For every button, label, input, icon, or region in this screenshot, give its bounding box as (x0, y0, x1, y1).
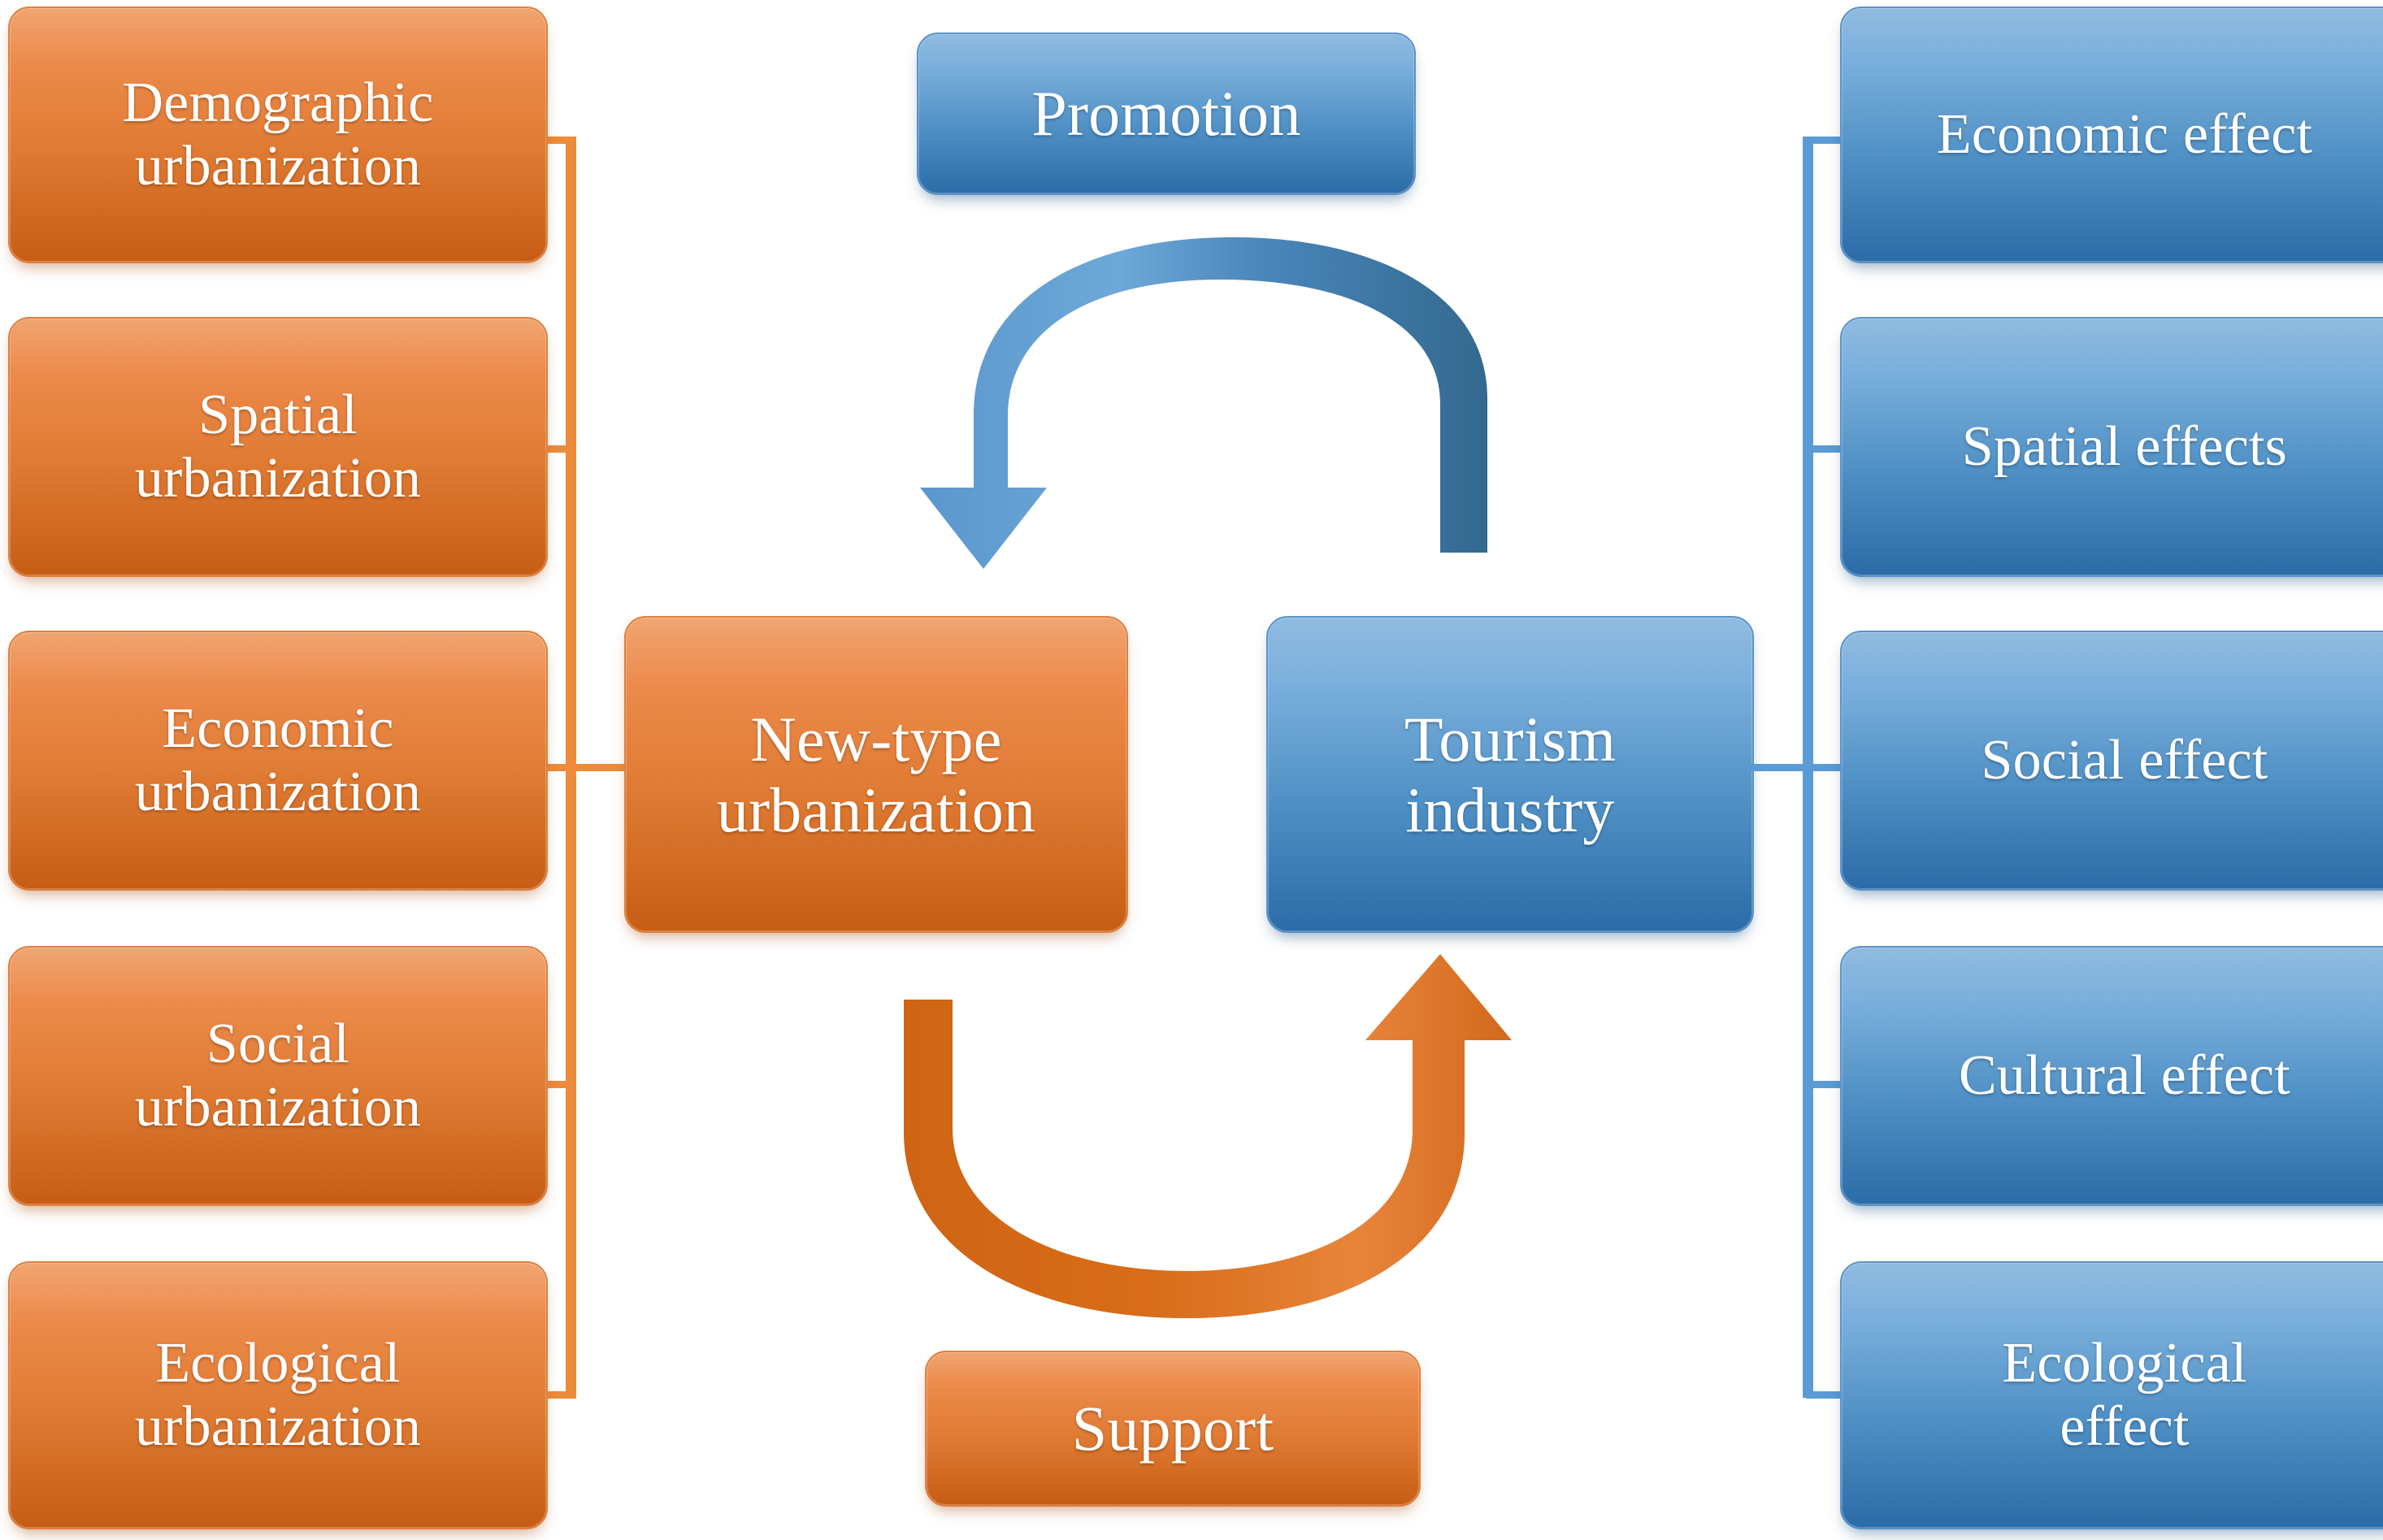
tourism-industry-line2: industry (1404, 774, 1616, 845)
left-item-spatial-urbanization[interactable]: Spatial urbanization (8, 317, 548, 577)
right-connector-2 (1806, 445, 1843, 453)
promotion-arrow (886, 244, 1552, 585)
right-item-social-effect[interactable]: Social effect (1840, 631, 2383, 891)
right-item-5-line1: Ecological (2002, 1332, 2246, 1395)
right-item-economic-effect[interactable]: Economic effect (1840, 7, 2383, 263)
left-item-2-line2: urbanization (135, 447, 421, 510)
tourism-industry-line1: Tourism (1404, 704, 1616, 774)
left-item-social-urbanization[interactable]: Social urbanization (8, 946, 548, 1206)
right-item-3-line1: Social effect (1981, 729, 2268, 792)
right-item-spatial-effects[interactable]: Spatial effects (1840, 317, 2383, 577)
right-item-cultural-effect[interactable]: Cultural effect (1840, 946, 2383, 1206)
right-item-5-line2: effect (2002, 1395, 2246, 1459)
right-connector-5 (1806, 1391, 1843, 1399)
right-item-4-line1: Cultural effect (1959, 1044, 2290, 1108)
left-item-5-line2: urbanization (135, 1395, 421, 1459)
left-item-economic-urbanization[interactable]: Economic urbanization (8, 631, 548, 891)
left-item-5-line1: Ecological (135, 1332, 421, 1395)
support-node[interactable]: Support (925, 1351, 1421, 1507)
right-connector-4 (1806, 1081, 1843, 1088)
left-item-4-line1: Social (135, 1013, 421, 1076)
left-connector-2 (543, 445, 576, 453)
right-item-ecological-effect[interactable]: Ecological effect (1840, 1261, 2383, 1529)
left-item-ecological-urbanization[interactable]: Ecological urbanization (8, 1261, 548, 1529)
left-item-1-line1: Demographic (122, 72, 433, 135)
left-connector-1 (543, 137, 576, 144)
right-item-2-line1: Spatial effects (1962, 415, 2287, 479)
promotion-label: Promotion (1031, 78, 1300, 149)
left-connector-4 (543, 1081, 576, 1088)
support-label: Support (1072, 1393, 1274, 1464)
right-item-1-line1: Economic effect (1937, 103, 2312, 167)
right-connector-1 (1806, 137, 1843, 144)
support-arrow (862, 943, 1528, 1349)
left-item-3-line2: urbanization (135, 761, 421, 824)
tourism-industry-node[interactable]: Tourism industry (1266, 616, 1754, 933)
left-item-2-line1: Spatial (135, 384, 421, 447)
left-item-demographic-urbanization[interactable]: Demographic urbanization (8, 7, 548, 263)
left-item-1-line2: urbanization (122, 135, 433, 198)
center-to-right-bracket (1747, 764, 1812, 771)
new-type-urbanization-node[interactable]: New-type urbanization (624, 616, 1128, 933)
left-connector-5 (543, 1391, 576, 1399)
left-item-3-line1: Economic (135, 697, 421, 761)
promotion-node[interactable]: Promotion (917, 33, 1416, 195)
new-type-urbanization-line2: urbanization (717, 774, 1035, 845)
left-item-4-line2: urbanization (135, 1076, 421, 1139)
diagram-canvas: Demographic urbanization Spatial urbaniz… (0, 0, 2383, 1540)
new-type-urbanization-line1: New-type (717, 704, 1035, 774)
